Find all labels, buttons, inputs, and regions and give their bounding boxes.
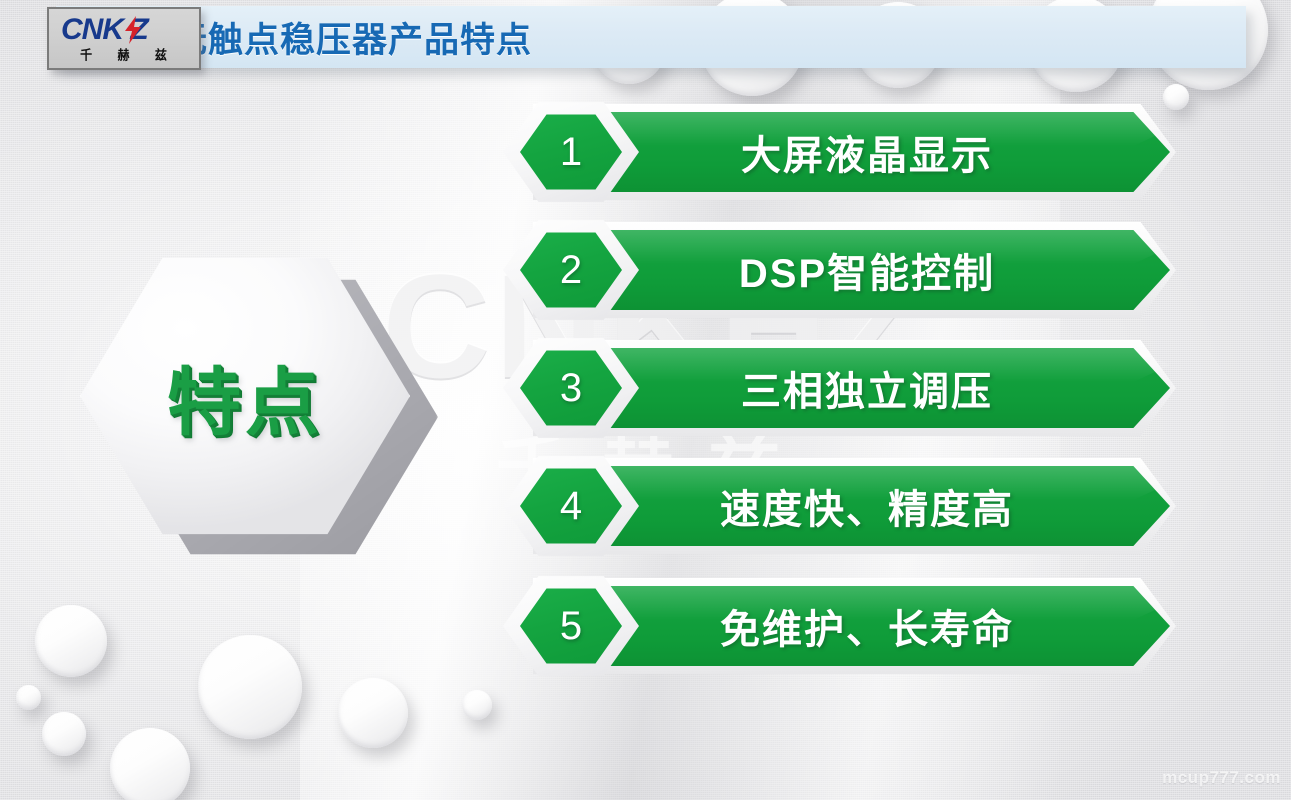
feature-row-badge: 2	[503, 218, 639, 322]
feature-row-badge: 3	[503, 336, 639, 440]
badge-number: 3	[520, 349, 622, 427]
feature-row[interactable]: 三相独立调压 3	[503, 340, 1176, 436]
feature-row-badge: 1	[503, 100, 639, 204]
feature-rows-list: 大屏液晶显示 1 DSP智能控制 2 三相独立调压	[0, 0, 1291, 800]
feature-row-badge: 5	[503, 574, 639, 678]
badge-number: 5	[520, 587, 622, 665]
feature-row[interactable]: DSP智能控制 2	[503, 222, 1176, 318]
page-title: 无触点稳压器产品特点	[172, 12, 532, 63]
feature-row-badge: 4	[503, 454, 639, 558]
badge-number: 2	[520, 231, 622, 309]
company-logo: CNK Z 千 赫 兹	[47, 7, 201, 70]
feature-row[interactable]: 大屏液晶显示 1	[503, 104, 1176, 200]
badge-number: 1	[520, 113, 622, 191]
slide-canvas: CNKHZ 千赫兹 mcup777.com 无触点稳压器产品特点 CNK Z 千…	[0, 0, 1291, 800]
header: 无触点稳压器产品特点 CNK Z 千 赫 兹	[0, 0, 1291, 78]
lightning-bolt-icon	[121, 16, 145, 44]
feature-row[interactable]: 速度快、精度高 4	[503, 458, 1176, 554]
logo-subtitle: 千 赫 兹	[70, 45, 178, 64]
badge-number: 4	[520, 467, 622, 545]
logo-wordmark: CNK Z	[61, 15, 187, 45]
feature-row[interactable]: 免维护、长寿命 5	[503, 578, 1176, 674]
